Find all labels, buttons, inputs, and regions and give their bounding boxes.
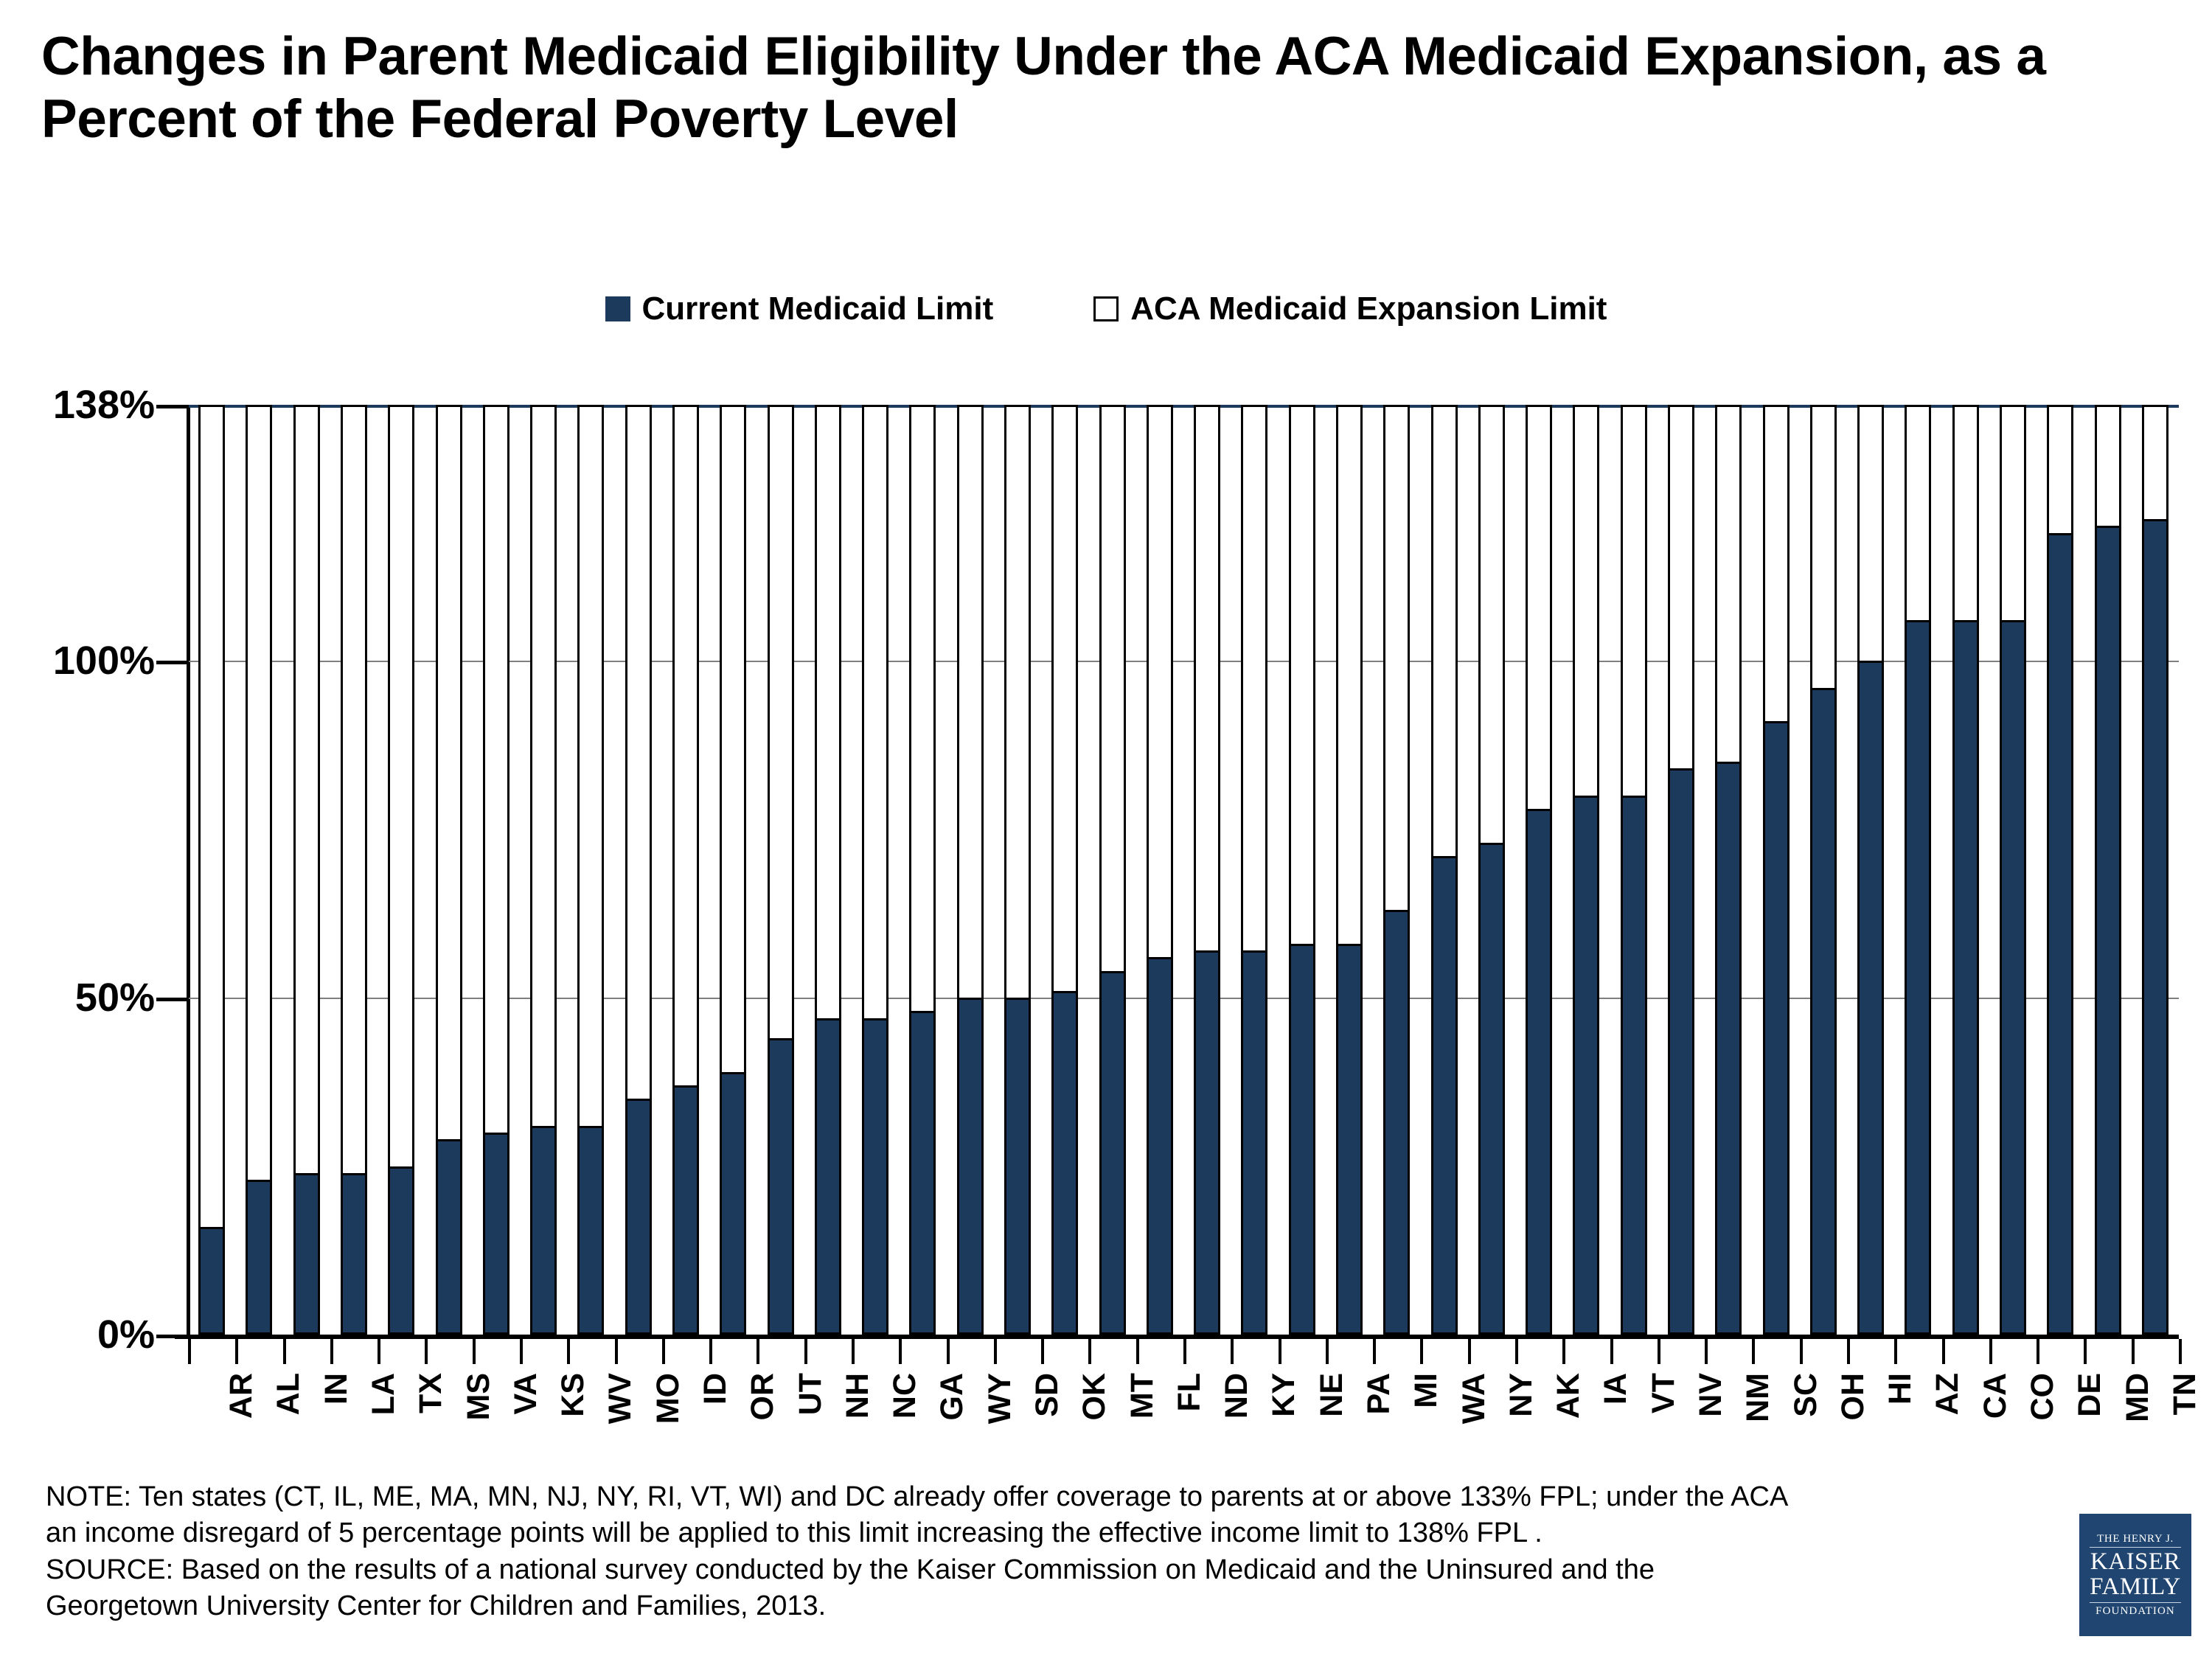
bar-current-limit[interactable] — [2000, 620, 2026, 1335]
x-axis-label-wy: WY — [982, 1373, 1018, 1424]
x-axis-label-ky: KY — [1266, 1373, 1302, 1417]
y-axis-tick-100 — [156, 661, 189, 664]
bar-current-limit[interactable] — [957, 998, 984, 1335]
x-axis-tick — [425, 1339, 428, 1364]
bar-group[interactable] — [957, 405, 984, 1335]
bar-group[interactable] — [530, 405, 557, 1335]
bar-current-limit[interactable] — [1147, 957, 1173, 1335]
x-axis-tick — [330, 1339, 333, 1364]
x-axis-label-mi: MI — [1408, 1373, 1444, 1408]
x-axis-label-co: CO — [2025, 1373, 2061, 1421]
x-axis-label-id: ID — [698, 1373, 734, 1405]
bar-group[interactable] — [293, 405, 320, 1335]
bar-current-limit[interactable] — [577, 1126, 604, 1335]
bar-group[interactable] — [1336, 405, 1363, 1335]
bar-current-limit[interactable] — [862, 1018, 888, 1335]
bar-current-limit[interactable] — [1526, 809, 1552, 1335]
x-axis-tick — [662, 1339, 665, 1364]
bar-current-limit[interactable] — [909, 1011, 936, 1335]
x-axis-tick — [947, 1339, 950, 1364]
bar-group[interactable] — [2047, 405, 2073, 1335]
x-axis-label-in: IN — [319, 1373, 355, 1405]
bar-current-limit[interactable] — [1478, 843, 1505, 1335]
x-axis-tick — [1041, 1339, 1044, 1364]
x-axis-tick — [2132, 1339, 2135, 1364]
bar-group[interactable] — [672, 405, 699, 1335]
bar-expansion-limit[interactable] — [198, 405, 225, 1335]
x-axis-label-ut: UT — [793, 1373, 829, 1415]
x-axis-tick — [1468, 1339, 1471, 1364]
bar-group[interactable] — [388, 405, 414, 1335]
x-axis-label-ak: AK — [1551, 1373, 1587, 1419]
bar-group[interactable] — [341, 405, 367, 1335]
x-axis-label-ga: GA — [934, 1373, 970, 1421]
y-axis-label-0: 0% — [97, 1312, 155, 1357]
x-axis-label-nd: ND — [1219, 1373, 1255, 1419]
bar-group[interactable] — [483, 405, 509, 1335]
x-axis-tick — [235, 1339, 238, 1364]
x-axis-tick — [804, 1339, 807, 1364]
bar-group[interactable] — [1715, 405, 1742, 1335]
y-axis-label-50: 50% — [75, 975, 155, 1020]
bar-current-limit[interactable] — [1194, 950, 1220, 1335]
x-axis-label-nv: NV — [1693, 1373, 1729, 1417]
logo-divider-bottom — [2090, 1602, 2181, 1603]
x-axis-label-va: VA — [508, 1373, 544, 1415]
x-axis-tick — [1752, 1339, 1755, 1364]
x-axis-tick — [378, 1339, 380, 1364]
bar-group[interactable] — [625, 405, 652, 1335]
x-axis-label-al: AL — [271, 1373, 307, 1415]
bar-group[interactable] — [1526, 405, 1552, 1335]
x-axis-label-mt: MT — [1124, 1373, 1161, 1419]
x-axis-label-de: DE — [2072, 1373, 2108, 1417]
bar-current-limit[interactable] — [388, 1166, 414, 1335]
bar-current-limit[interactable] — [815, 1018, 841, 1335]
x-axis-tick — [899, 1339, 902, 1364]
bar-group[interactable] — [2095, 405, 2121, 1335]
bar-current-limit[interactable] — [672, 1085, 699, 1335]
x-axis-label-tn: TN — [2167, 1373, 2203, 1415]
bar-current-limit[interactable] — [1621, 796, 1647, 1335]
bar-current-limit[interactable] — [341, 1173, 367, 1335]
x-axis-tick — [1420, 1339, 1423, 1364]
bar-group[interactable] — [1857, 405, 1884, 1335]
x-axis-label-ms: MS — [461, 1373, 497, 1421]
x-axis-tick — [2084, 1339, 2087, 1364]
x-axis-tick — [1800, 1339, 1803, 1364]
bar-group[interactable] — [1810, 405, 1837, 1335]
x-axis-tick — [283, 1339, 286, 1364]
kaiser-family-foundation-logo: THE HENRY J. KAISER FAMILY FOUNDATION — [2079, 1514, 2191, 1636]
x-axis-tick — [757, 1339, 759, 1364]
bar-current-limit[interactable] — [1336, 944, 1363, 1335]
logo-line-1: THE HENRY J. — [2097, 1533, 2174, 1545]
x-axis-label-ne: NE — [1314, 1373, 1350, 1417]
x-axis-tick — [1847, 1339, 1850, 1364]
x-axis-label-nc: NC — [887, 1373, 923, 1419]
bar-current-limit[interactable] — [198, 1227, 225, 1335]
bar-current-limit[interactable] — [1857, 661, 1884, 1335]
bar-group[interactable] — [1573, 405, 1599, 1335]
bar-current-limit[interactable] — [1289, 944, 1315, 1335]
bar-current-limit[interactable] — [1241, 950, 1267, 1335]
legend-item-current: Current Medicaid Limit — [605, 291, 994, 327]
bar-current-limit[interactable] — [1763, 721, 1790, 1335]
bar-current-limit[interactable] — [1573, 796, 1599, 1335]
bar-current-limit[interactable] — [1715, 762, 1742, 1335]
x-axis-tick — [2179, 1339, 2182, 1364]
x-axis-label-oh: OH — [1835, 1373, 1871, 1421]
source-line-1: SOURCE: Based on the results of a nation… — [46, 1552, 2037, 1588]
bar-current-limit[interactable] — [1905, 620, 1931, 1335]
bar-group[interactable] — [815, 405, 841, 1335]
legend-swatch-current-icon — [605, 296, 630, 321]
bar-group[interactable] — [1051, 405, 1078, 1335]
x-axis-tick — [1515, 1339, 1518, 1364]
x-axis-tick — [1942, 1339, 1945, 1364]
bar-current-limit[interactable] — [246, 1180, 272, 1335]
x-axis-label-pa: PA — [1361, 1373, 1397, 1415]
bar-group[interactable] — [1383, 405, 1410, 1335]
bar-group[interactable] — [1478, 405, 1505, 1335]
logo-divider-top — [2090, 1547, 2181, 1548]
x-axis-tick — [1088, 1339, 1091, 1364]
bar-group[interactable] — [1952, 405, 1979, 1335]
legend-label-current: Current Medicaid Limit — [642, 291, 994, 327]
y-axis-tick-50 — [156, 998, 189, 1001]
bar-group[interactable] — [577, 405, 604, 1335]
bar-current-limit[interactable] — [1952, 620, 1979, 1335]
x-axis-label-hi: HI — [1882, 1373, 1919, 1405]
x-axis-tick — [994, 1339, 997, 1364]
x-axis-label-vt: VT — [1646, 1373, 1682, 1413]
x-axis-label-sd: SD — [1029, 1373, 1065, 1417]
bar-current-limit[interactable] — [2095, 526, 2121, 1335]
bar-current-limit[interactable] — [1051, 991, 1078, 1335]
bar-group[interactable] — [1289, 405, 1315, 1335]
bar-current-limit[interactable] — [625, 1099, 652, 1335]
x-axis-tick — [1894, 1339, 1897, 1364]
legend-label-expansion: ACA Medicaid Expansion Limit — [1130, 291, 1607, 327]
bar-current-limit[interactable] — [436, 1139, 462, 1335]
y-axis-tick-138 — [156, 405, 189, 408]
x-axis-label-ok: OK — [1077, 1373, 1113, 1421]
bar-group[interactable] — [720, 405, 746, 1335]
x-axis-label-ar: AR — [223, 1373, 260, 1419]
bar-current-limit[interactable] — [1810, 688, 1837, 1335]
x-axis-label-ia: IA — [1598, 1373, 1634, 1405]
bar-group[interactable] — [436, 405, 462, 1335]
x-axis-label-fl: FL — [1172, 1373, 1208, 1412]
bar-group[interactable] — [1668, 405, 1694, 1335]
bar-current-limit[interactable] — [1668, 768, 1694, 1335]
x-axis-tick — [1373, 1339, 1376, 1364]
bar-current-limit[interactable] — [1383, 910, 1410, 1335]
bar-current-limit[interactable] — [1004, 998, 1031, 1335]
x-axis-tick — [520, 1339, 523, 1364]
x-axis-tick — [1326, 1339, 1329, 1364]
y-axis-tick-0 — [156, 1335, 189, 1338]
bar-group[interactable] — [1763, 405, 1790, 1335]
x-axis-tick — [1610, 1339, 1613, 1364]
x-axis-tick — [709, 1339, 712, 1364]
x-axis-label-az: AZ — [1930, 1373, 1966, 1415]
x-axis-label-ks: KS — [555, 1373, 591, 1417]
x-axis-label-ny: NY — [1503, 1373, 1540, 1417]
x-axis-label-sc: SC — [1788, 1373, 1824, 1417]
bar-group[interactable] — [1905, 405, 1931, 1335]
x-axis-tick — [2037, 1339, 2039, 1364]
x-axis-tick — [852, 1339, 855, 1364]
x-axis-tick — [567, 1339, 570, 1364]
bar-current-limit[interactable] — [530, 1126, 557, 1335]
x-axis-label-wv: WV — [602, 1373, 639, 1424]
logo-line-2: KAISER — [2090, 1550, 2180, 1575]
x-axis-tick — [188, 1339, 191, 1364]
x-axis-label-la: LA — [366, 1373, 402, 1415]
bar-current-limit[interactable] — [720, 1072, 746, 1335]
note-line-2: an income disregard of 5 percentage poin… — [46, 1515, 2037, 1551]
bar-group[interactable] — [1621, 405, 1647, 1335]
bar-group[interactable] — [862, 405, 888, 1335]
legend-swatch-expansion-icon — [1093, 296, 1119, 321]
note-line-1: NOTE: Ten states (CT, IL, ME, MA, MN, NJ… — [46, 1479, 2037, 1515]
bar-group[interactable] — [768, 405, 794, 1335]
bar-current-limit[interactable] — [768, 1038, 794, 1335]
logo-line-4: FOUNDATION — [2096, 1605, 2175, 1618]
bar-current-limit[interactable] — [293, 1173, 320, 1335]
x-axis-tick — [1658, 1339, 1660, 1364]
chart-plot-area — [188, 405, 2179, 1335]
x-axis-label-or: OR — [745, 1373, 781, 1421]
x-axis-tick — [1183, 1339, 1186, 1364]
x-axis-tick — [1989, 1339, 1992, 1364]
bar-group[interactable] — [2142, 405, 2168, 1335]
footer-notes: NOTE: Ten states (CT, IL, ME, MA, MN, NJ… — [46, 1479, 2037, 1625]
x-axis-tick — [1231, 1339, 1234, 1364]
bar-group[interactable] — [246, 405, 272, 1335]
legend-item-expansion: ACA Medicaid Expansion Limit — [1093, 291, 1607, 327]
y-axis-label-138: 138% — [53, 382, 155, 428]
bar-group[interactable] — [1099, 405, 1126, 1335]
bar-group[interactable] — [1431, 405, 1458, 1335]
x-axis-label-md: MD — [2120, 1373, 2156, 1422]
x-axis-label-ca: CA — [1978, 1373, 2014, 1419]
bar-group[interactable] — [2000, 405, 2026, 1335]
x-axis-tick — [1705, 1339, 1708, 1364]
x-axis-tick — [615, 1339, 618, 1364]
x-axis-tick — [1279, 1339, 1281, 1364]
x-axis-label-nh: NH — [840, 1373, 876, 1419]
bar-group[interactable] — [1147, 405, 1173, 1335]
x-axis-label-mo: MO — [650, 1373, 686, 1424]
bar-group[interactable] — [1194, 405, 1220, 1335]
bar-current-limit[interactable] — [1099, 971, 1126, 1335]
x-axis-tick — [1136, 1339, 1139, 1364]
source-line-2: Georgetown University Center for Childre… — [46, 1588, 2037, 1624]
bar-current-limit[interactable] — [2142, 519, 2168, 1335]
x-axis-label-nm: NM — [1740, 1373, 1776, 1422]
x-axis-tick — [473, 1339, 476, 1364]
bar-group[interactable] — [1241, 405, 1267, 1335]
bar-group[interactable] — [198, 405, 225, 1335]
x-axis-label-wa: WA — [1456, 1373, 1492, 1424]
chart-legend: Current Medicaid Limit ACA Medicaid Expa… — [0, 291, 2212, 327]
x-axis-label-tx: TX — [413, 1373, 449, 1413]
x-axis-tick — [1562, 1339, 1565, 1364]
logo-line-3: FAMILY — [2090, 1575, 2181, 1600]
bar-current-limit[interactable] — [483, 1133, 509, 1335]
bar-current-limit[interactable] — [1431, 856, 1458, 1335]
bar-group[interactable] — [1004, 405, 1031, 1335]
page-title: Changes in Parent Medicaid Eligibility U… — [41, 25, 2128, 151]
bar-current-limit[interactable] — [2047, 533, 2073, 1335]
bar-group[interactable] — [909, 405, 936, 1335]
y-axis-label-100: 100% — [53, 638, 155, 684]
